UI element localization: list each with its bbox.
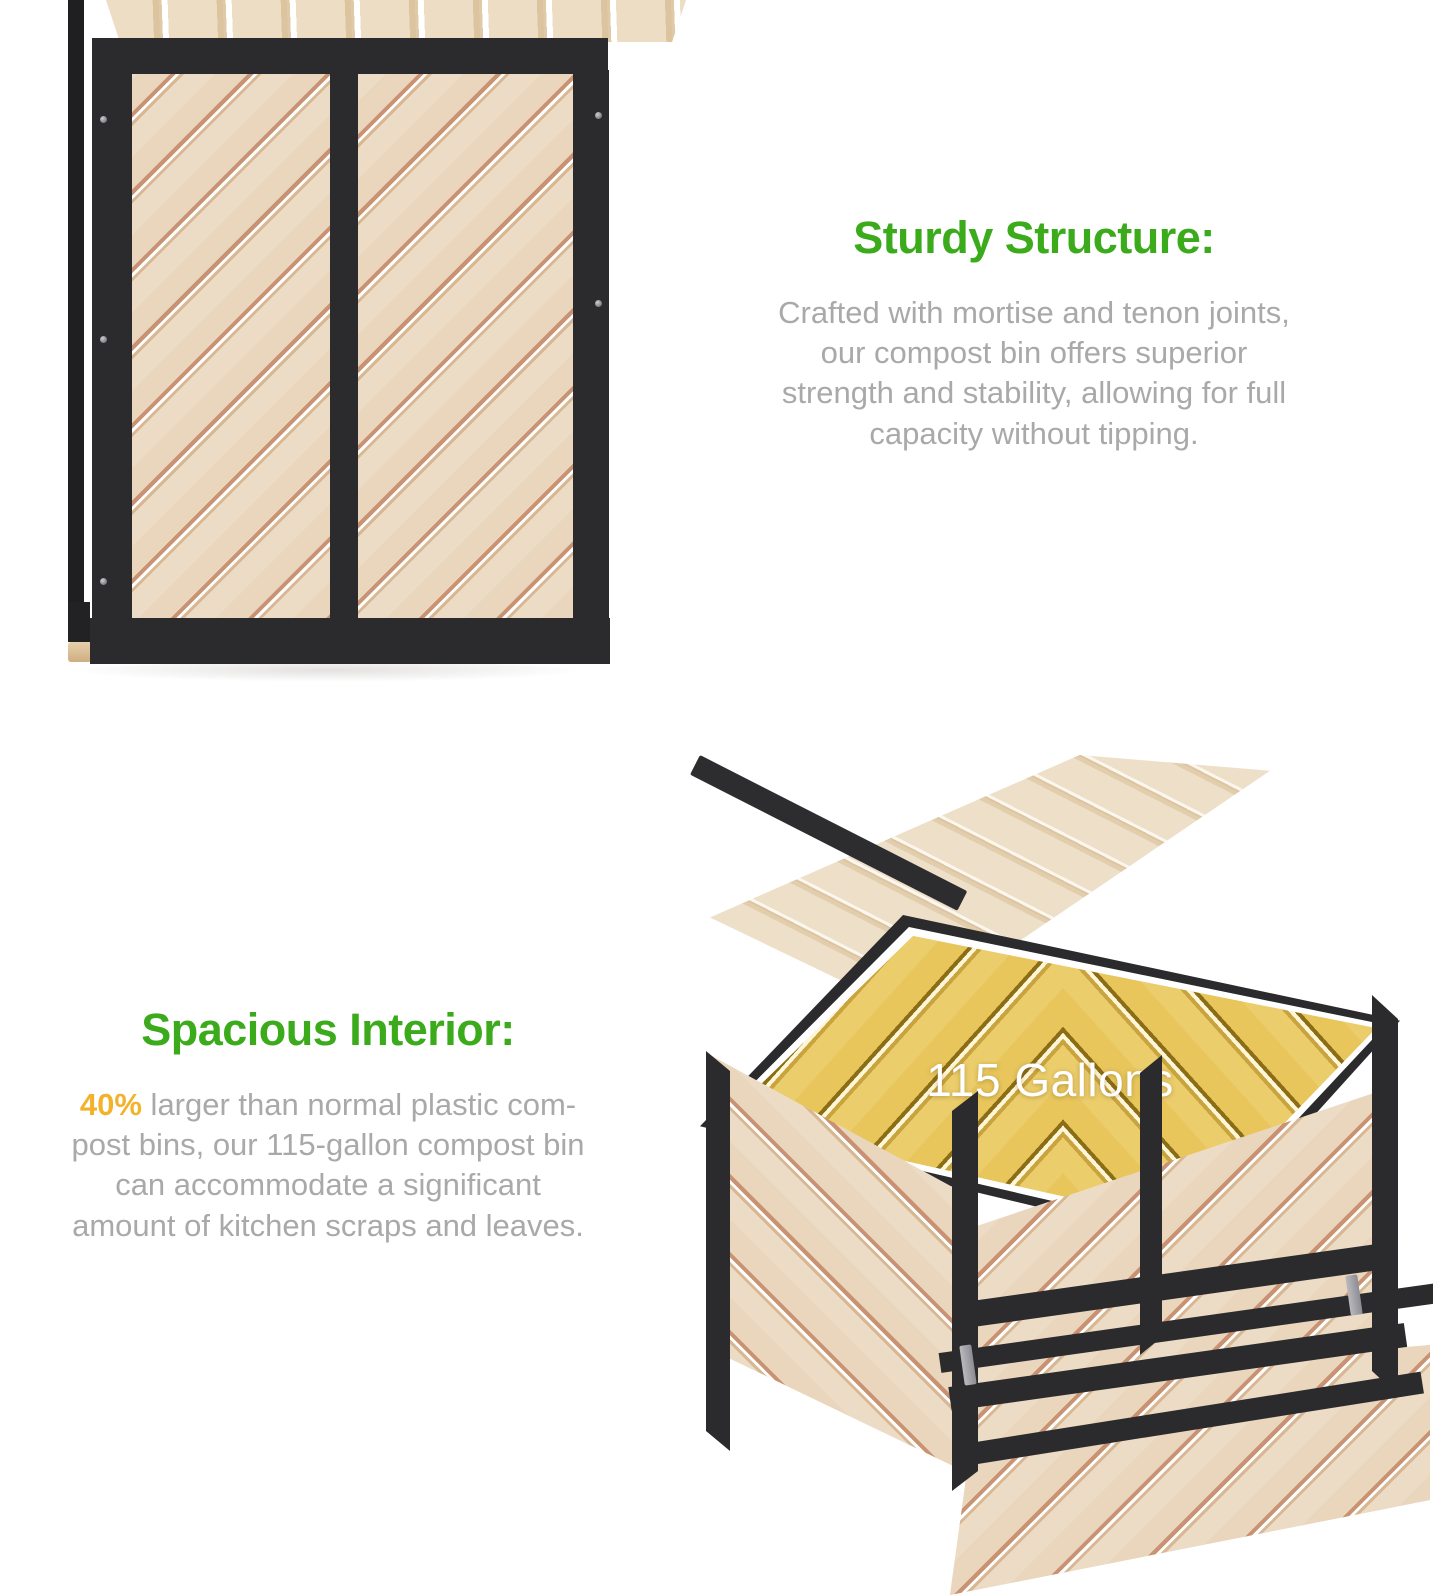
frame-post-middle	[330, 74, 358, 626]
screw-icon	[100, 336, 107, 343]
bottom-frame-post-center	[952, 1091, 978, 1491]
lid-plank-texture	[96, 0, 696, 42]
feature-heading-spacious-interior: Spacious Interior:	[0, 1006, 662, 1054]
body-line: our compost bin offers superior	[821, 335, 1248, 370]
feature-heading-sturdy-structure: Sturdy Structure:	[684, 214, 1384, 262]
stat-highlight-40-percent: 40%	[80, 1087, 142, 1122]
screw-icon	[595, 112, 602, 119]
frame-rail-bottom-side	[68, 602, 90, 642]
frame-post-left	[92, 70, 132, 630]
product-drop-shadow	[68, 662, 588, 682]
screw-icon	[595, 300, 602, 307]
body-line: capacity without tipping.	[869, 416, 1198, 451]
wooden-latch-peg	[68, 642, 92, 662]
body-line: amount of kitchen scraps and leaves.	[72, 1208, 584, 1243]
screw-icon	[100, 578, 107, 585]
feature-body-spacious-interior: 40% larger than normal plastic com- post…	[0, 1085, 662, 1246]
bin-lid-top	[96, 0, 696, 42]
product-image-open-compost-bin: 115 Gallons	[700, 755, 1433, 1515]
feature-block-sturdy-structure: Sturdy Structure: Crafted with mortise a…	[684, 214, 1384, 485]
frame-post-right	[573, 70, 609, 642]
body-line: post bins, our 115-gallon compost bin	[72, 1127, 585, 1162]
chevron-slat-texture-right	[356, 74, 576, 626]
frame-rail-bottom	[90, 618, 610, 664]
bottom-frame-post-left	[706, 1051, 730, 1451]
screw-icon	[100, 116, 107, 123]
feature-block-spacious-interior: Spacious Interior: 40% larger than norma…	[0, 1006, 662, 1277]
bin-panel-right	[356, 74, 576, 626]
body-line: can accommodate a significant	[115, 1167, 541, 1202]
frame-rail-top	[92, 38, 608, 76]
bottom-frame-post-inner	[1140, 1055, 1162, 1355]
body-line: Crafted with mortise and tenon joints,	[778, 295, 1290, 330]
bin-panel-left	[130, 74, 332, 622]
marketing-canvas: Sturdy Structure: Crafted with mortise a…	[0, 0, 1433, 1500]
product-image-closed-compost-bin	[68, 0, 698, 695]
feature-body-sturdy-structure: Crafted with mortise and tenon joints, o…	[684, 293, 1384, 454]
body-line: larger than normal plastic com-	[142, 1087, 576, 1122]
chevron-slat-texture-left	[130, 74, 332, 622]
frame-post-right-edge	[68, 0, 84, 602]
body-line: strength and stability, allowing for ful…	[782, 375, 1286, 410]
